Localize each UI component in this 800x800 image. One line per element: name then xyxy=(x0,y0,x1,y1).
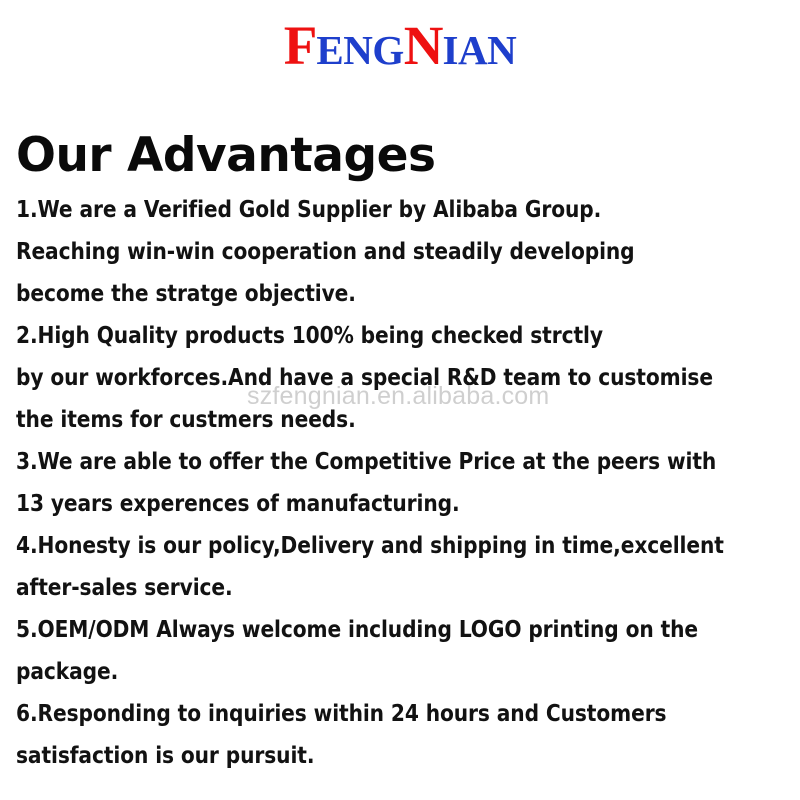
advantage-line: 13 years experences of manufacturing. xyxy=(16,482,757,524)
advantage-line: 6.Responding to inquiries within 24 hour… xyxy=(16,692,757,734)
advantage-line: Reaching win-win cooperation and steadil… xyxy=(16,230,757,272)
advantage-line: the items for custmers needs. xyxy=(16,398,757,440)
advantage-line: after-sales service. xyxy=(16,566,757,608)
advantage-line: 1.We are a Verified Gold Supplier by Ali… xyxy=(16,188,757,230)
logo-letters-ian: IAN xyxy=(443,27,517,73)
advantage-line: package. xyxy=(16,650,757,692)
advantage-line: 3.We are able to offer the Competitive P… xyxy=(16,440,757,482)
advantage-line: 5.OEM/ODM Always welcome including LOGO … xyxy=(16,608,757,650)
advantages-list: 1.We are a Verified Gold Supplier by Ali… xyxy=(16,188,792,776)
advantages-banner: FENGNIAN Our Advantages 1.We are a Verif… xyxy=(0,0,800,800)
advantage-line: by our workforces.And have a special R&D… xyxy=(16,356,757,398)
logo-letter-f: F xyxy=(284,15,317,76)
advantage-line: 2.High Quality products 100% being check… xyxy=(16,314,757,356)
advantage-line: satisfaction is our pursuit. xyxy=(16,734,757,776)
logo-letters-eng: ENG xyxy=(316,27,403,73)
company-logo: FENGNIAN xyxy=(0,18,800,73)
page-title: Our Advantages xyxy=(16,132,435,179)
logo-letter-n: N xyxy=(404,15,443,76)
advantage-line: 4.Honesty is our policy,Delivery and shi… xyxy=(16,524,757,566)
advantage-line: become the stratge objective. xyxy=(16,272,757,314)
